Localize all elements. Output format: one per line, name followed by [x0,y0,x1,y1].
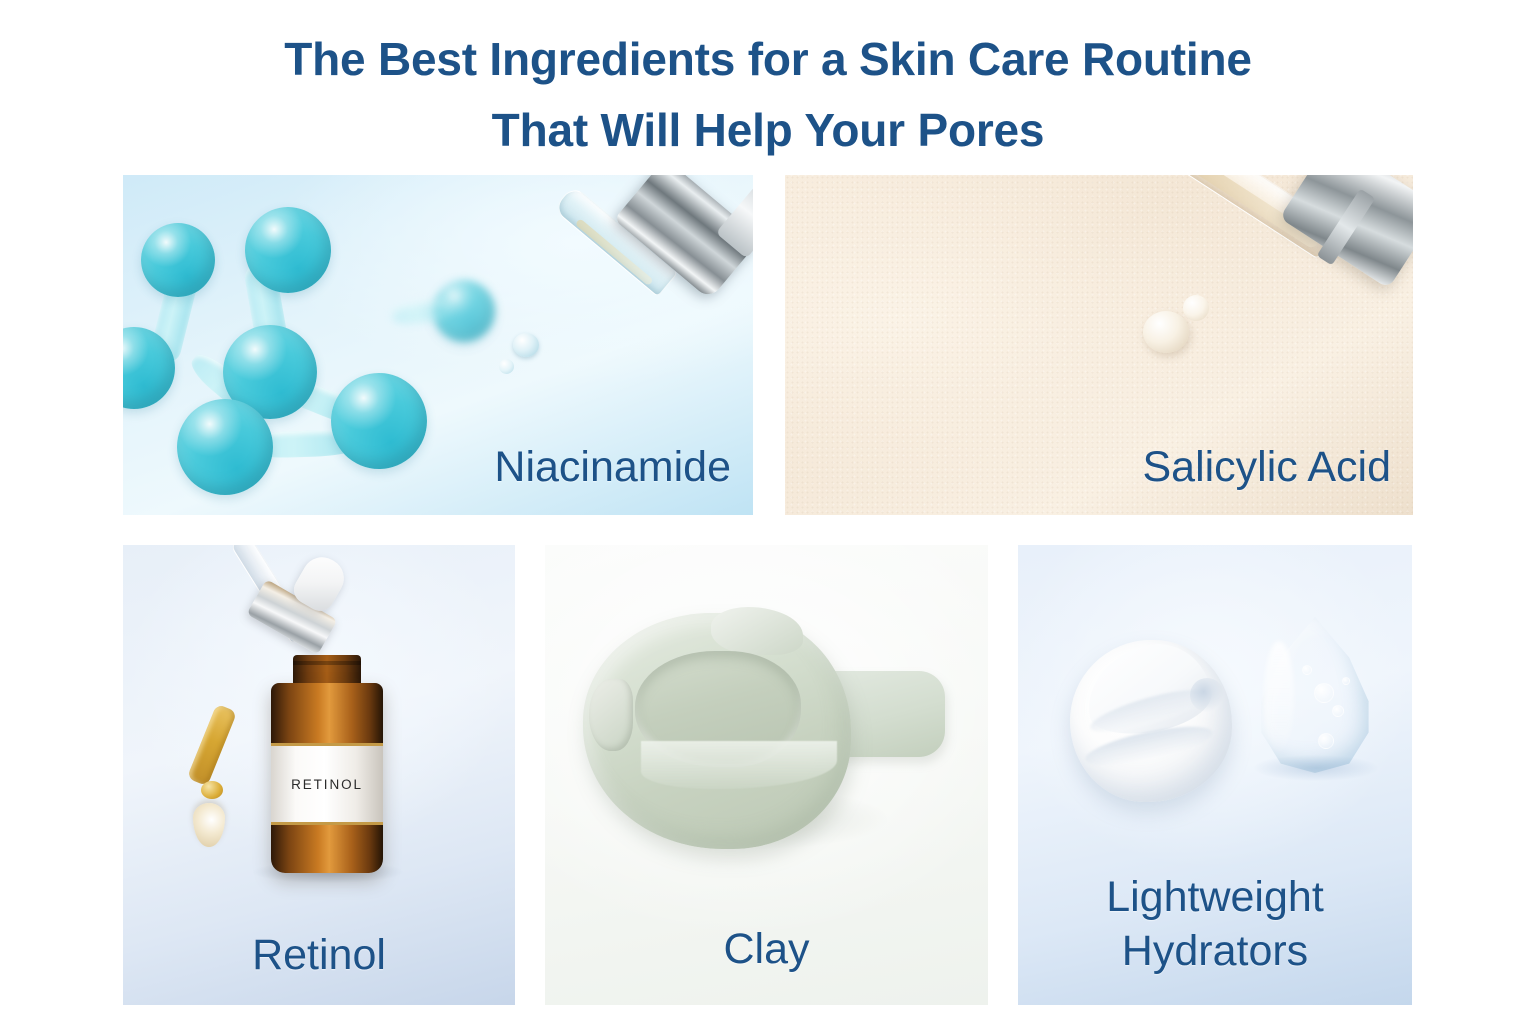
page-title: The Best Ingredients for a Skin Care Rou… [0,24,1536,167]
molecule-atom [331,373,427,469]
dropper-illustration [473,183,753,423]
dropper-oil [187,704,237,786]
ingredient-card-lightweight-hydrators[interactable]: Lightweight Hydrators [1018,545,1412,1005]
droplet-bubble [1318,733,1334,749]
ingredient-label-salicylic-acid: Salicylic Acid [1142,440,1391,495]
ingredient-card-salicylic-acid[interactable]: Salicylic Acid [785,175,1413,515]
page-title-line-1: The Best Ingredients for a Skin Care Rou… [0,24,1536,95]
dropper-illustration [1079,175,1409,421]
ingredient-label-niacinamide: Niacinamide [494,440,731,495]
ingredient-label-lightweight-hydrators: Lightweight Hydrators [1018,870,1412,979]
droplet-highlight [1264,641,1294,751]
ingredient-card-clay[interactable]: Clay [545,545,988,1005]
molecule-atom [245,207,331,293]
clay-ridge [589,679,633,751]
water-droplet-illustration [1258,617,1372,773]
molecule-atom [177,399,273,495]
molecule-atom [141,223,215,297]
ingredient-card-retinol[interactable]: RETINOL Retinol [123,545,515,1005]
cream-notch [1190,678,1224,712]
droplet-bubble [1302,665,1312,675]
droplet-bubble [1332,705,1344,717]
ingredient-card-niacinamide[interactable]: Niacinamide [123,175,753,515]
cream-dollop-illustration [1070,640,1232,802]
serum-droplet-small [499,359,514,374]
oil-droplet [193,803,225,847]
dropper-illustration [165,555,375,855]
ingredient-label-clay: Clay [545,922,988,977]
serum-droplet [1143,311,1189,353]
oil-bead [201,781,223,799]
clay-mask-illustration [583,613,931,849]
page-title-line-2: That Will Help Your Pores [0,95,1536,166]
droplet-bubble [1342,677,1350,685]
ingredient-label-retinol: Retinol [123,928,515,983]
clay-ridge [711,607,803,655]
serum-droplet [513,333,539,357]
droplet-bubble [1314,683,1334,703]
serum-droplet-small [1183,295,1209,321]
